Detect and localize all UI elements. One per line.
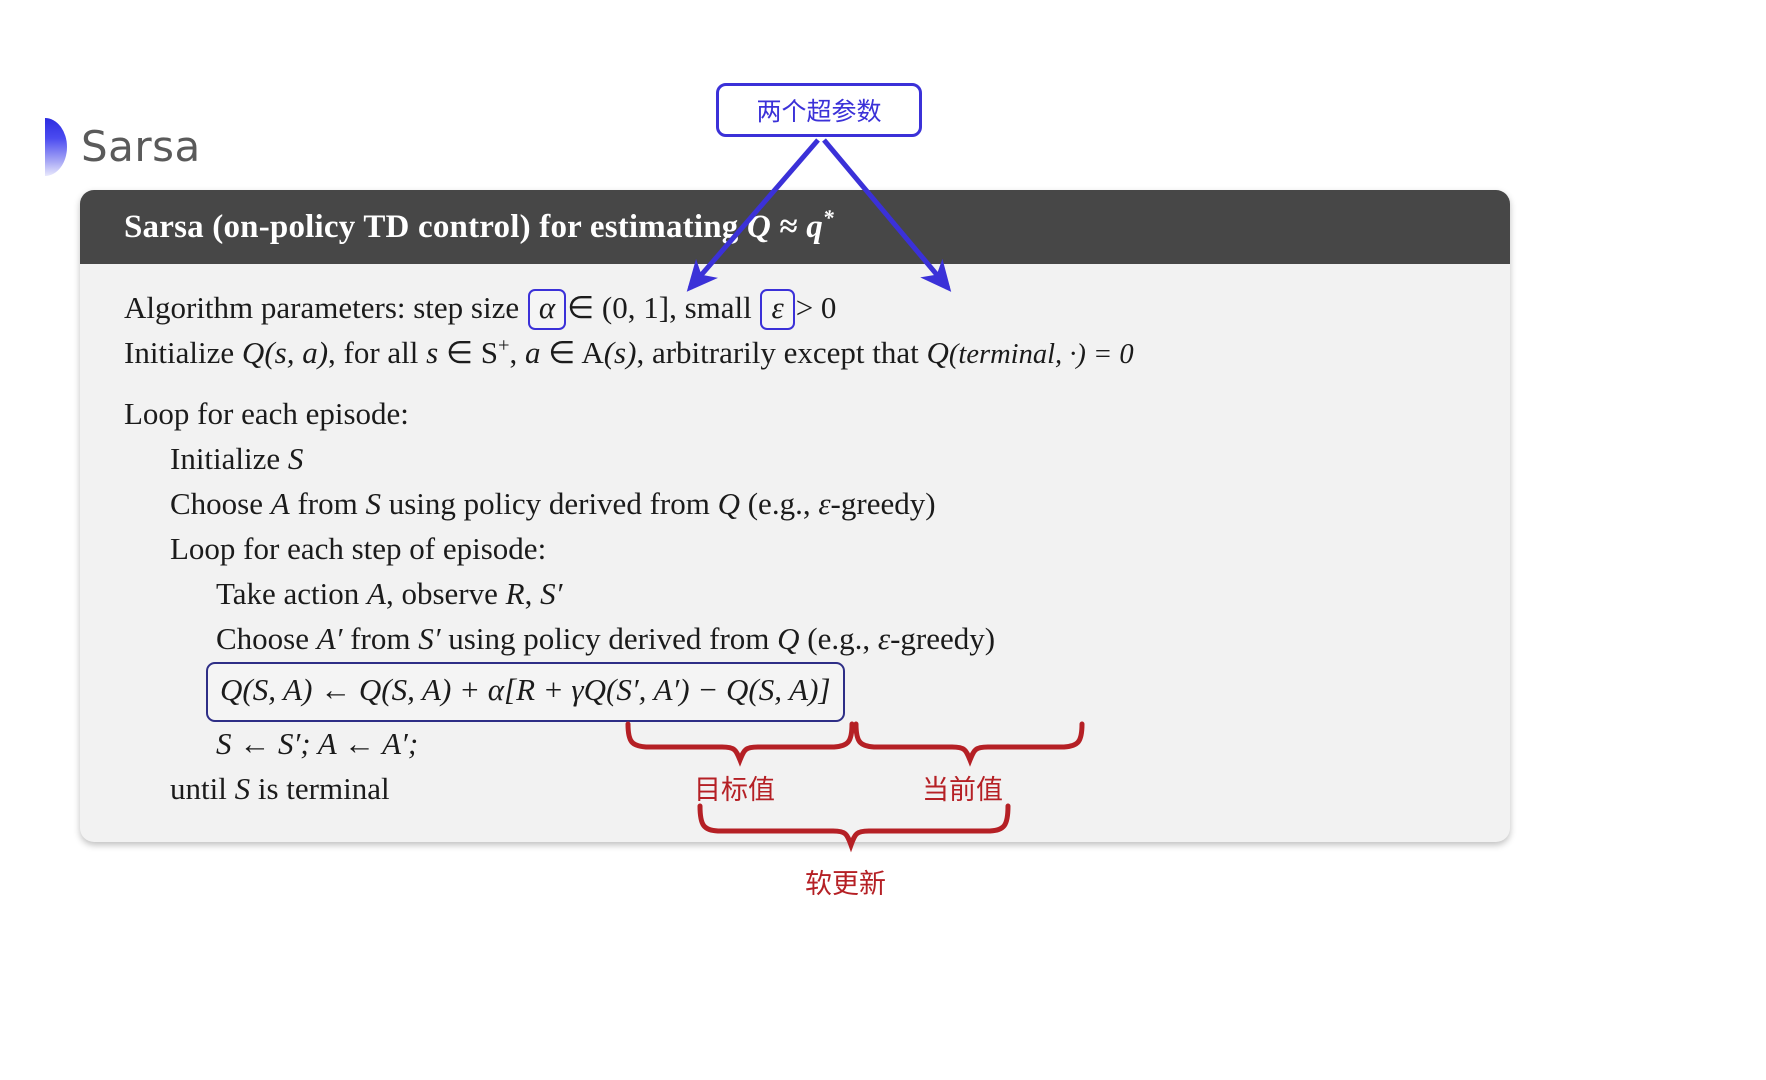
annotation-target-value: 目标值 <box>694 768 775 807</box>
symbol-a-prime: A′ <box>317 621 343 656</box>
init-args-s: (s) <box>604 335 637 370</box>
params-middle: ∈ (0, 1], small <box>567 290 759 325</box>
symbol-a-lower: a <box>525 335 541 370</box>
symbol-s-upper: S <box>288 441 304 476</box>
parameter-alpha-box[interactable]: α <box>528 289 566 330</box>
header-symbol-q-lower: q <box>806 209 823 245</box>
choose2-text-1: Choose <box>216 621 317 656</box>
choose-a-text-3: using policy derived from <box>381 486 718 521</box>
symbol-a-upper: A <box>271 486 290 521</box>
init-text-c: , arbitrarily except that <box>636 335 926 370</box>
choose-a-text-4: (e.g., <box>740 486 818 521</box>
choose2-text-5: -greedy) <box>890 621 995 656</box>
line-loop-step: Loop for each step of episode: <box>124 527 1510 572</box>
hyperparameters-callout-label: 两个超参数 <box>756 92 881 128</box>
line-algorithm-parameters: Algorithm parameters: step size α∈ (0, 1… <box>124 286 1510 331</box>
symbol-epsilon-1: ε <box>818 486 830 521</box>
take-text-2: , observe <box>386 576 506 611</box>
slide-canvas: Sarsa Sarsa (on-policy TD control) for e… <box>0 0 1766 1080</box>
algorithm-header-prefix: Sarsa (on-policy TD control) for estimat… <box>124 209 747 245</box>
symbol-s-prime-2: S′ <box>418 621 440 656</box>
symbol-s-upper-2: S <box>365 486 381 521</box>
choose-a-text-5: -greedy) <box>831 486 936 521</box>
parameter-epsilon-box[interactable]: ε <box>760 289 794 330</box>
annotation-soft-update: 软更新 <box>805 862 886 901</box>
init-s-text: Initialize <box>170 441 288 476</box>
header-subscript-star: * <box>823 206 834 230</box>
symbol-action-set: A <box>581 335 603 370</box>
symbol-q: Q <box>242 335 264 370</box>
line-initialize-q: Initialize Q(s, a), for all s ∈ S+, a ∈ … <box>124 331 1510 376</box>
choose2-text-2: from <box>342 621 418 656</box>
symbol-s-prime: S′ <box>540 576 562 611</box>
symbol-q-3: Q <box>718 486 740 521</box>
choose2-text-3: using policy derived from <box>441 621 778 656</box>
choose-a-text-1: Choose <box>170 486 271 521</box>
init-args-sa: (s, a) <box>264 335 328 370</box>
choose-a-text-2: from <box>290 486 366 521</box>
page-title-label: Sarsa <box>81 126 201 168</box>
init-terminal: (terminal, ·) = 0 <box>949 339 1134 370</box>
annotation-current-value: 当前值 <box>922 768 1003 807</box>
symbol-q-2: Q <box>927 335 949 370</box>
symbol-s-lower: s <box>426 335 438 370</box>
symbol-q-4: Q <box>777 621 799 656</box>
symbol-a-upper-2: A <box>367 576 386 611</box>
header-symbol-q-upper: Q <box>747 209 771 245</box>
line-assign: S ← S′; A ← A′; <box>124 722 1510 767</box>
page-title: Sarsa <box>45 118 201 176</box>
line-loop-episode: Loop for each episode: <box>124 392 1510 437</box>
algorithm-body: Algorithm parameters: step size α∈ (0, 1… <box>80 264 1510 842</box>
init-comma: , <box>510 335 526 370</box>
q-update-equation-box[interactable]: Q(S, A) ← Q(S, A) + α[R + γQ(S′, A′) − Q… <box>206 662 845 723</box>
symbol-r: R <box>506 576 525 611</box>
symbol-epsilon-2: ε <box>878 621 890 656</box>
take-text-3: , <box>525 576 541 611</box>
until-text-1: until <box>170 771 235 806</box>
init-member-1: ∈ <box>438 335 481 370</box>
init-text-b: , for all <box>328 335 426 370</box>
line-update-equation: Q(S, A) ← Q(S, A) + α[R + γQ(S′, A′) − Q… <box>124 662 1510 723</box>
params-prefix: Algorithm parameters: step size <box>124 290 527 325</box>
line-choose-a-prime: Choose A′ from S′ using policy derived f… <box>124 617 1510 662</box>
symbol-s-upper-3: S <box>235 771 251 806</box>
algorithm-box: Sarsa (on-policy TD control) for estimat… <box>80 190 1510 842</box>
line-until-terminal: until S is terminal <box>124 767 1510 812</box>
hyperparameters-callout[interactable]: 两个超参数 <box>716 83 922 137</box>
symbol-state-set: S <box>481 335 498 370</box>
title-bullet-icon <box>45 118 67 176</box>
symbol-state-set-plus: + <box>498 335 510 357</box>
choose2-text-4: (e.g., <box>800 621 878 656</box>
line-choose-a: Choose A from S using policy derived fro… <box>124 482 1510 527</box>
algorithm-header: Sarsa (on-policy TD control) for estimat… <box>80 190 1510 264</box>
init-text-a: Initialize <box>124 335 242 370</box>
init-member-2: ∈ <box>541 335 582 370</box>
params-suffix: > 0 <box>796 290 837 325</box>
until-text-2: is terminal <box>250 771 389 806</box>
line-initialize-s: Initialize S <box>124 437 1510 482</box>
header-approx: ≈ <box>771 209 806 245</box>
line-take-action: Take action A, observe R, S′ <box>124 572 1510 617</box>
take-text-1: Take action <box>216 576 367 611</box>
